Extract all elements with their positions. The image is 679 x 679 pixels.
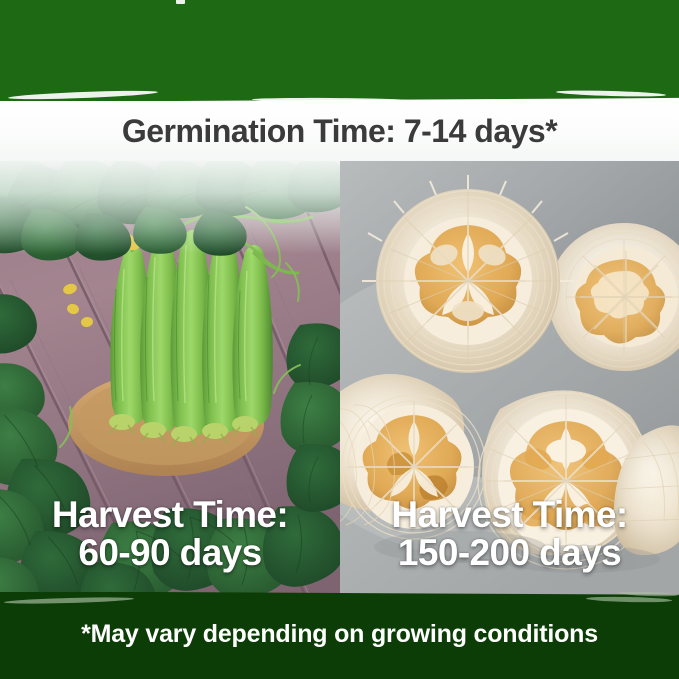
harvest-value-left: 60-90 days <box>0 534 340 572</box>
harvest-value-right: 150-200 days <box>340 534 679 572</box>
header-banner-fill <box>0 0 679 101</box>
header-banner <box>0 0 679 101</box>
disclaimer-text: *May vary depending on growing condition… <box>0 592 679 679</box>
harvest-label-right: Harvest Time: <box>391 494 627 535</box>
harvest-time-for-sponge: Harvest Time: 150-200 days <box>340 496 679 571</box>
harvest-label-left: Harvest Time: <box>52 494 288 535</box>
harvest-time-to-eat: Harvest Time: 60-90 days <box>0 496 340 571</box>
germination-time-text: Germination Time: 7-14 days* <box>0 101 679 161</box>
header-brush-wisp-mid <box>252 97 412 101</box>
header-notch-icon <box>176 0 185 4</box>
infographic-root: Superior Growth Germination Time: 7-14 d… <box>0 0 679 679</box>
